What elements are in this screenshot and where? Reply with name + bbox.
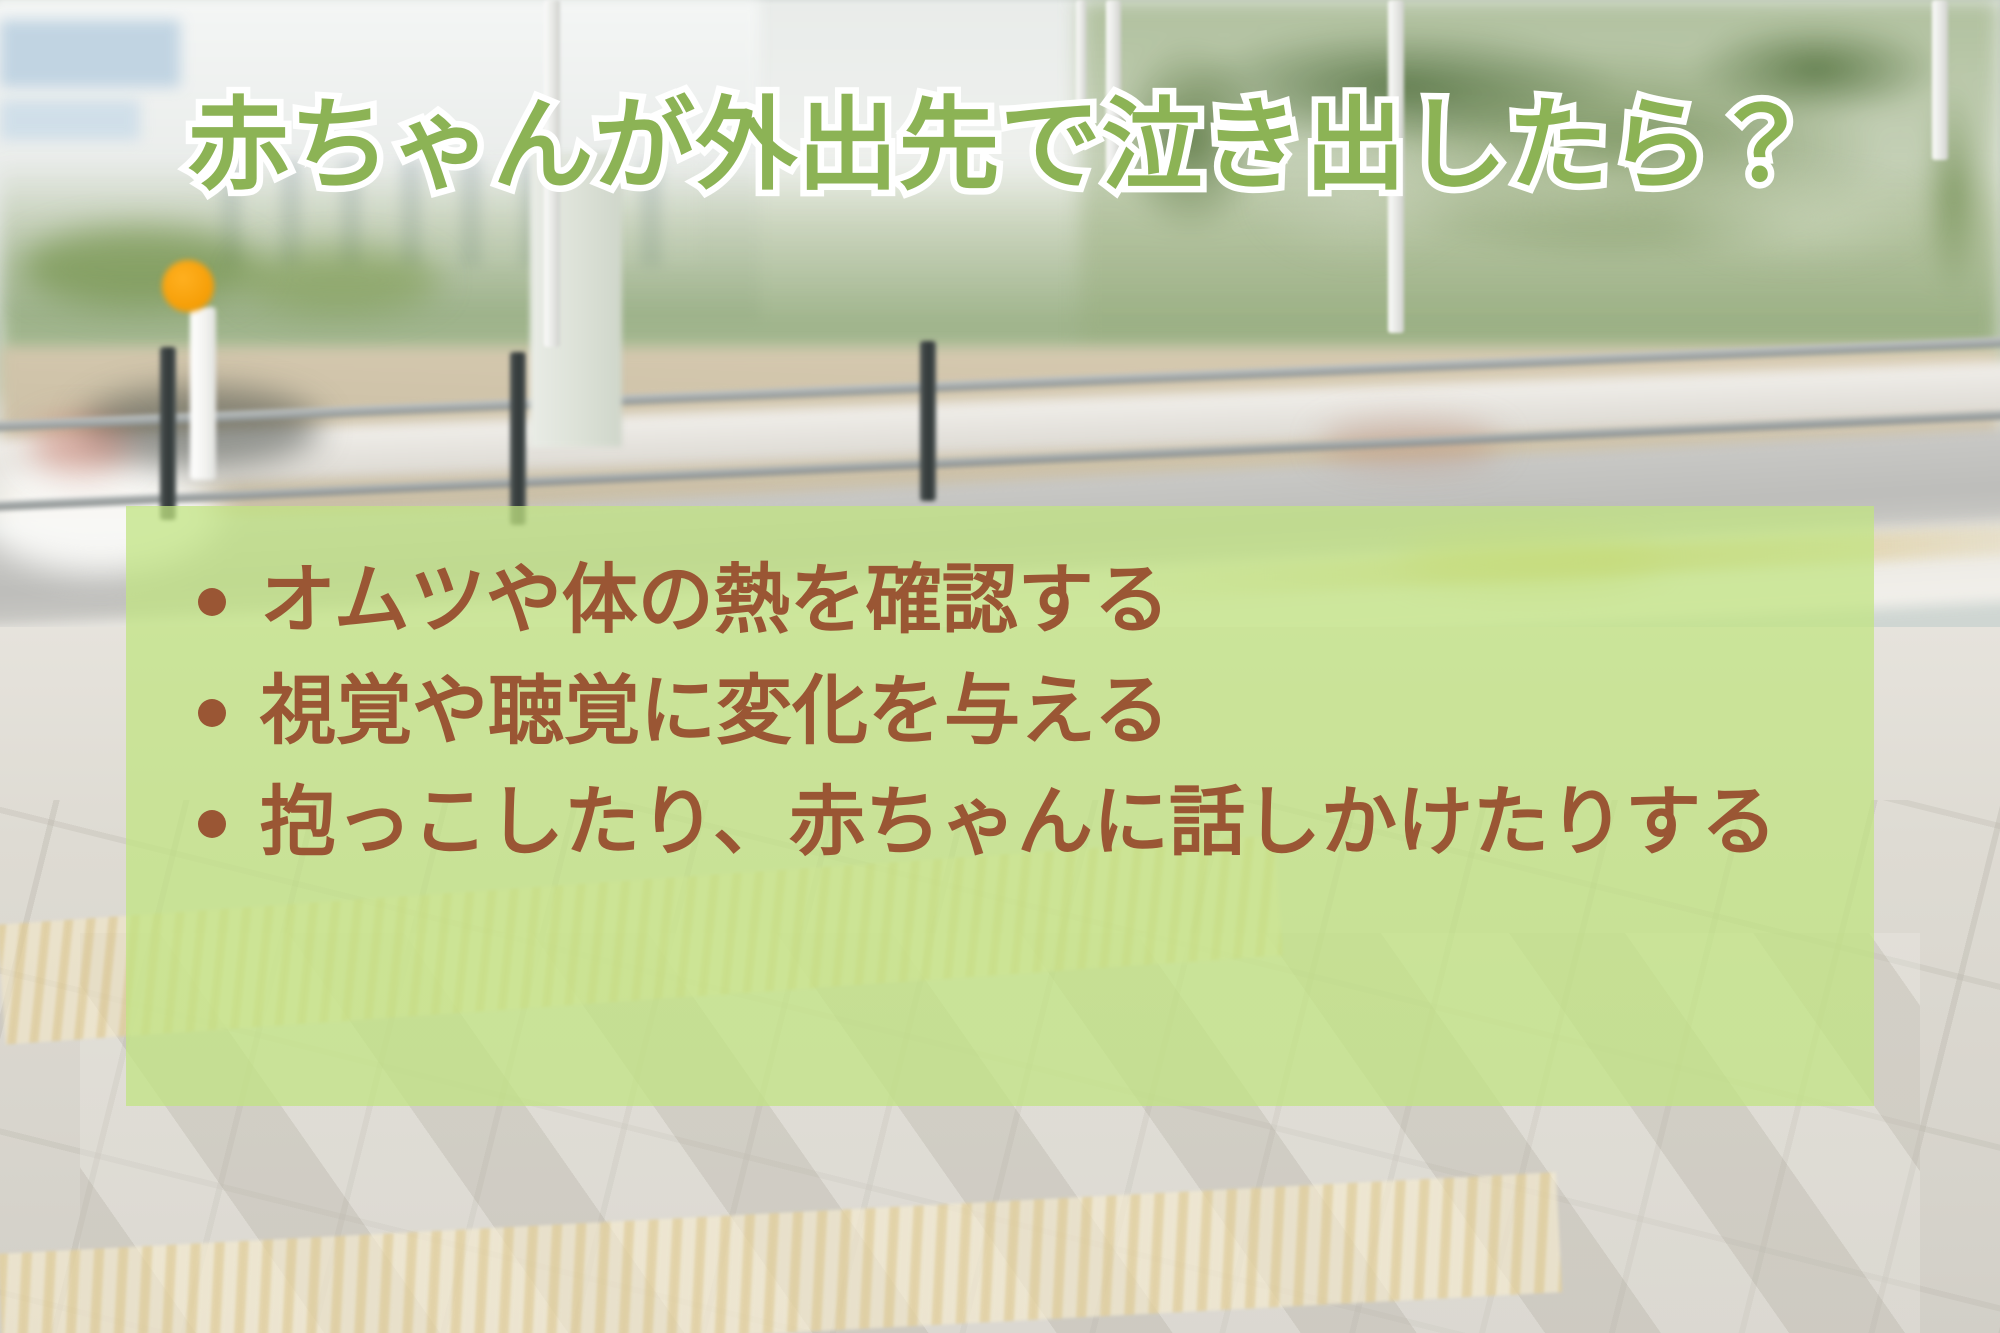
list-item: 抱っこしたり、赤ちゃんに話しかけたりする [190, 770, 1870, 875]
traffic-bollard-icon [162, 260, 214, 312]
list-item-label: 抱っこしたり、赤ちゃんに話しかけたりする [260, 770, 1870, 875]
list-item: オムツや体の熱を確認する [190, 548, 1870, 653]
bullet-dot-icon [198, 810, 226, 838]
bullet-dot-icon [198, 699, 226, 727]
foliage-blur-left [20, 227, 260, 307]
foliage-blur-mid [240, 247, 440, 314]
list-item-label: 視覚や聴覚に変化を与える [260, 659, 1870, 764]
tips-list: オムツや体の熱を確認する 視覚や聴覚に変化を与える 抱っこしたり、赤ちゃんに話し… [190, 548, 1870, 881]
building-stripe [0, 20, 180, 87]
rail-post-1 [160, 347, 176, 520]
traffic-bollard-pole [190, 307, 216, 480]
rail-post-2 [510, 352, 526, 525]
list-item: 視覚や聴覚に変化を与える [190, 659, 1870, 764]
page-title: 赤ちゃんが外出先で泣き出したら？ [0, 86, 2000, 205]
list-item-label: オムツや体の熱を確認する [260, 548, 1870, 653]
poster-canvas: 赤ちゃんが外出先で泣き出したら？ オムツや体の熱を確認する 視覚や聴覚に変化を与… [0, 0, 2000, 1333]
bullet-dot-icon [198, 588, 226, 616]
rail-post-3 [920, 341, 936, 501]
